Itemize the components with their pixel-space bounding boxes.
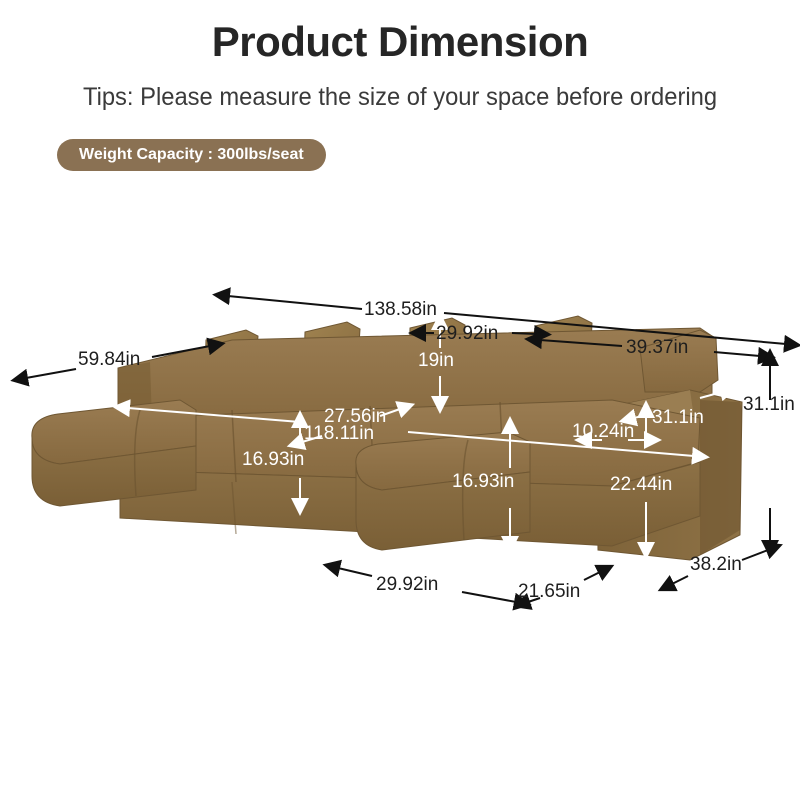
dimension-label-overall-depth: 59.84in	[78, 350, 140, 369]
weight-capacity-badge: Weight Capacity : 300lbs/seat	[57, 139, 326, 171]
dimension-label-pillow-height: 19in	[418, 351, 454, 370]
page-title: Product Dimension	[0, 18, 800, 66]
dimension-label-seat-depth-inner: 27.56in	[324, 407, 386, 426]
dimension-label-ottoman-depth: 21.65in	[518, 582, 580, 601]
dimension-label-seat-depth-right: 31.1in	[652, 408, 704, 427]
dimension-label-seat-height: 16.93in	[242, 450, 304, 469]
dimension-diagram: 138.58in 59.84in 29.92in 39.37in 31.1in …	[0, 250, 800, 650]
dimension-label-loveseat-width: 29.92in	[436, 324, 498, 343]
page-subtitle: Tips: Please measure the size of your sp…	[20, 82, 780, 112]
dimension-label-armchair-width: 39.37in	[626, 338, 688, 357]
dimension-label-ottoman-height: 16.93in	[452, 472, 514, 491]
product-dimension-page: Product Dimension Tips: Please measure t…	[0, 0, 800, 800]
dimension-label-overall-height: 31.1in	[743, 395, 795, 414]
dimension-label-overall-width: 138.58in	[364, 300, 437, 319]
dimension-label-armrest-height: 22.44in	[610, 475, 672, 494]
dimension-label-armrest-width: 10.24in	[572, 422, 634, 441]
dimension-label-ottoman-width: 29.92in	[376, 575, 438, 594]
left-chaise-ottoman	[32, 400, 196, 506]
dimension-label-chaise-depth: 38.2in	[690, 555, 742, 574]
